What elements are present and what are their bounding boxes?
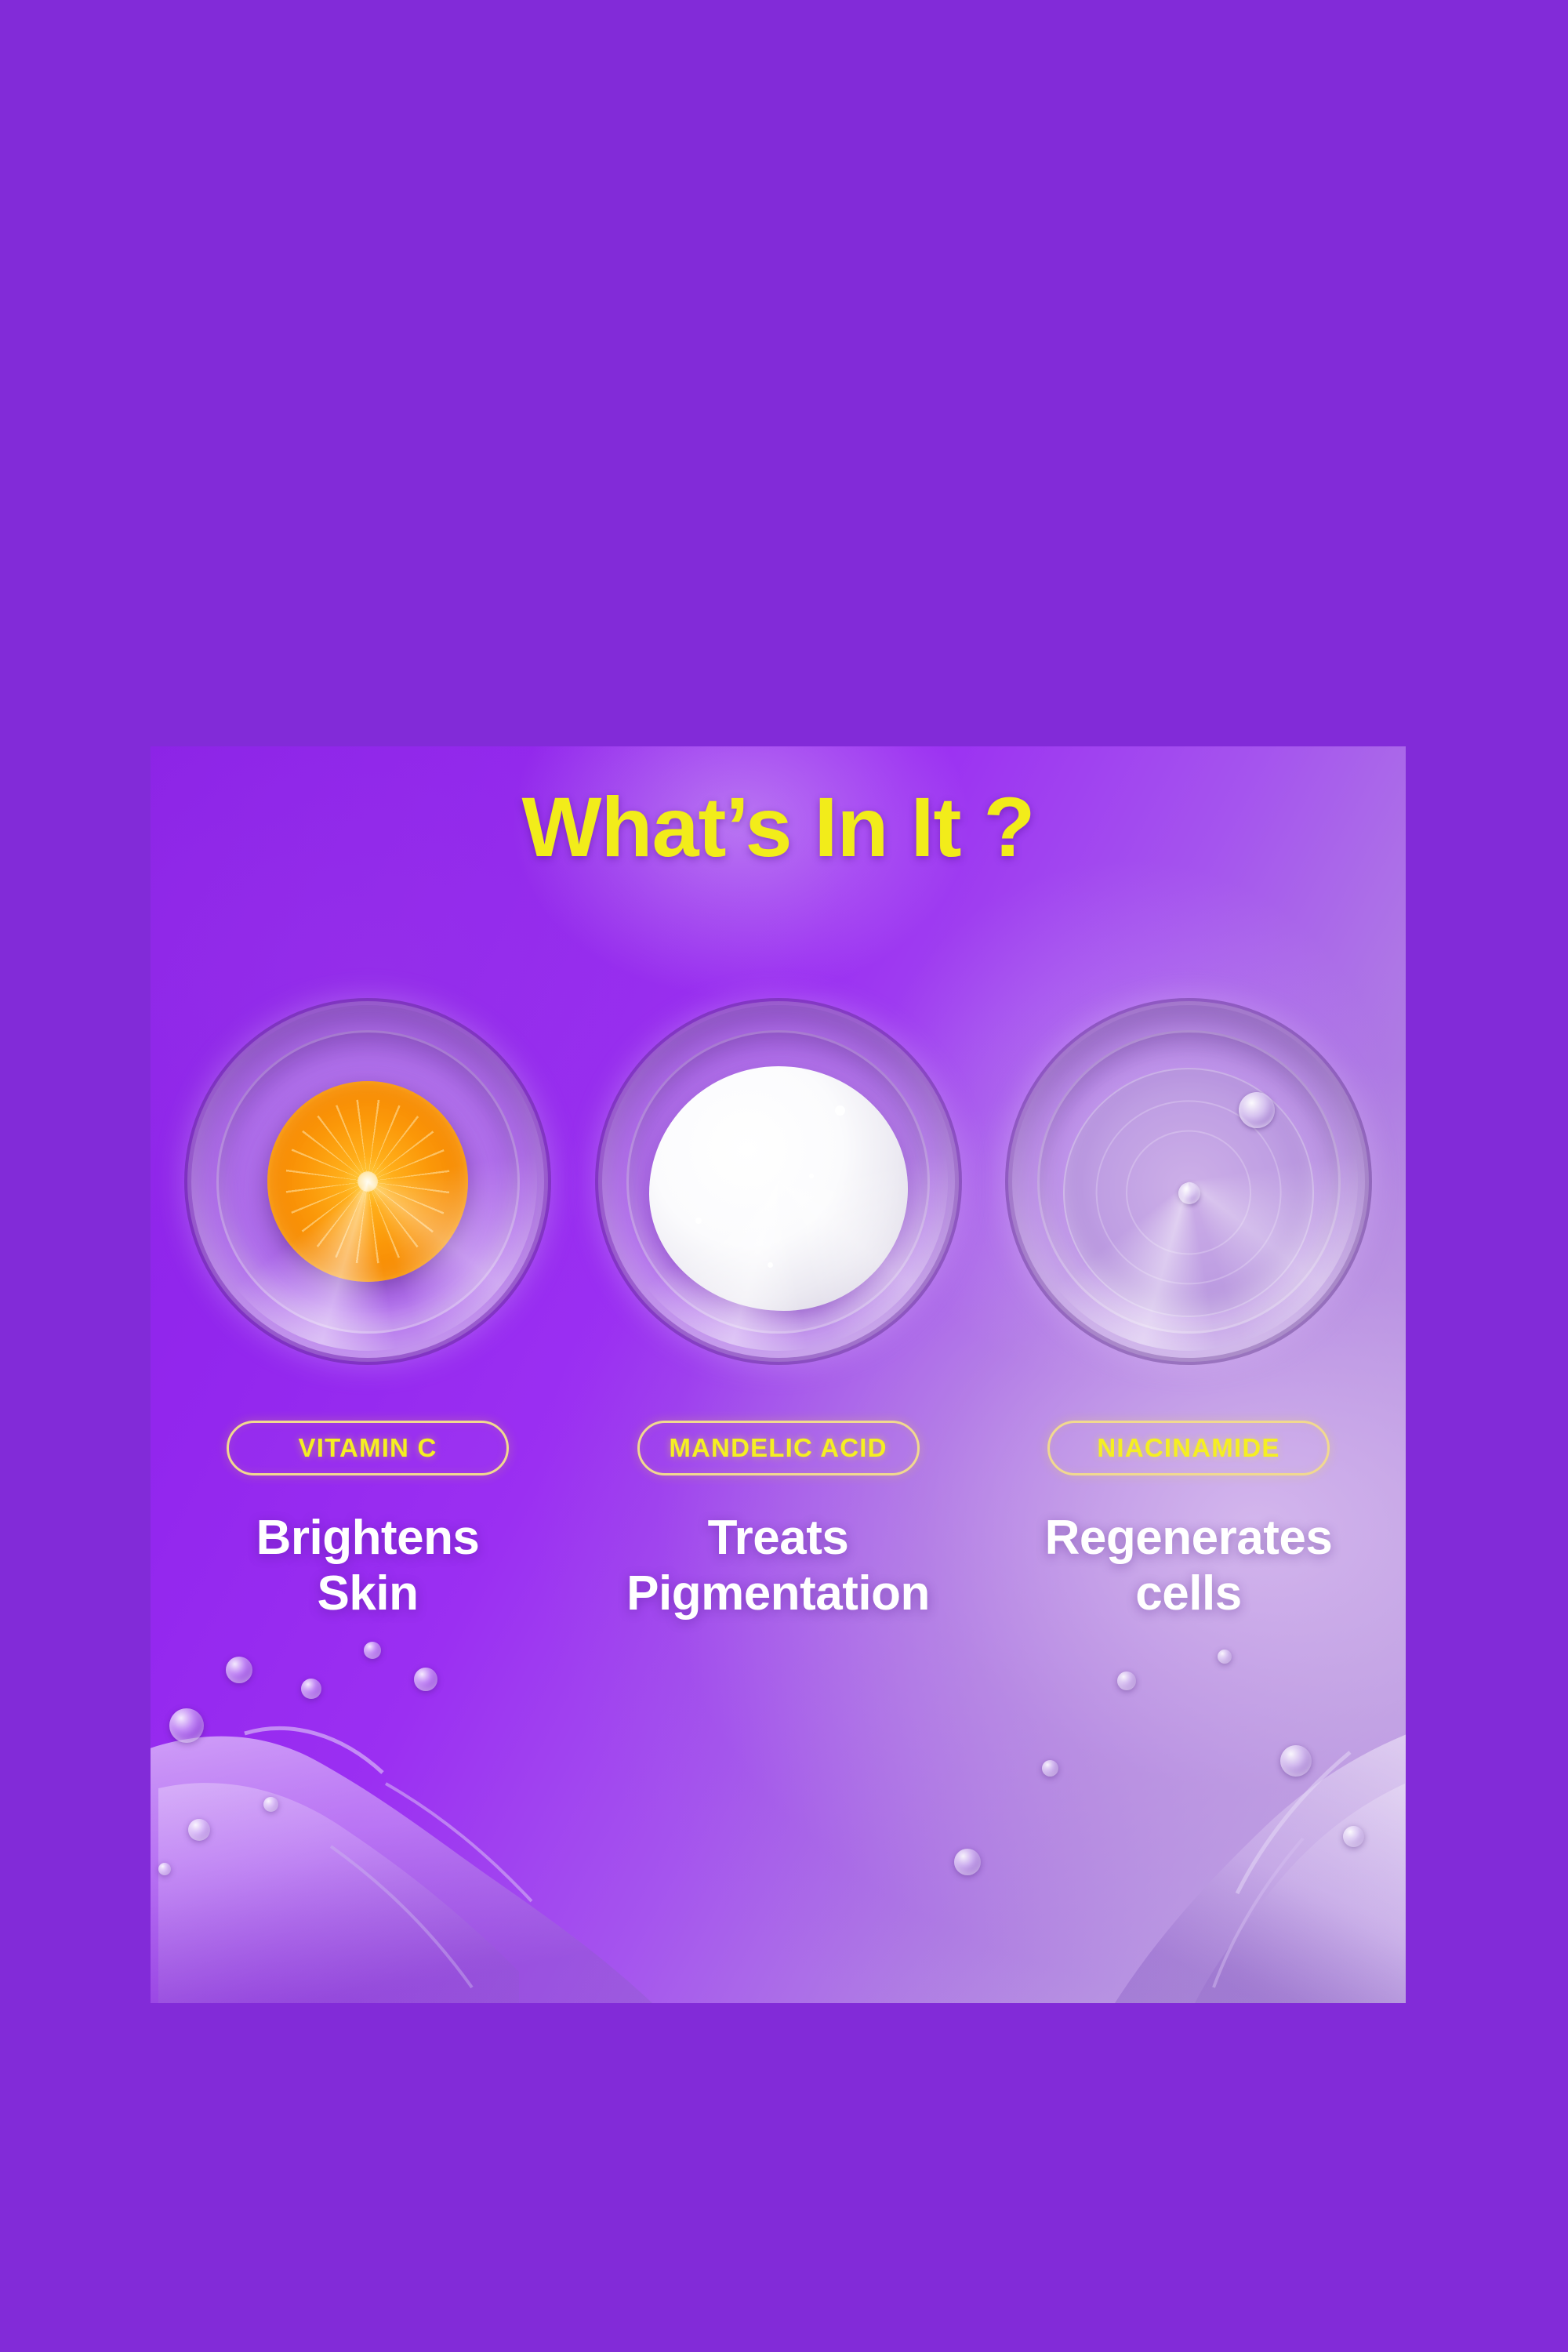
benefit-line-2: cells (1004, 1566, 1373, 1622)
water-bubble (158, 1863, 171, 1875)
water-bubble (301, 1679, 321, 1699)
ingredient-pill-niacinamide[interactable]: NIACINAMIDE (1047, 1421, 1330, 1475)
powder-grain (695, 1218, 702, 1224)
benefit-text-mandelic-acid: Treats Pigmentation (594, 1511, 963, 1621)
water-bubble (169, 1708, 204, 1743)
pill-column-0: VITAMIN C (183, 1421, 552, 1475)
water-bubble (414, 1668, 437, 1691)
benefit-line-1: Treats (708, 1511, 849, 1565)
orange-core (358, 1171, 378, 1192)
pill-column-1: MANDELIC ACID (594, 1421, 963, 1475)
water-splash-svg (151, 1635, 1406, 2003)
benefit-line-2: Pigmentation (594, 1566, 963, 1622)
splash-strand (1214, 1838, 1303, 1987)
water-bubble (1218, 1650, 1232, 1664)
benefit-text-niacinamide: Regenerates cells (1004, 1511, 1373, 1621)
splash-sheet-right-inner (1195, 1784, 1405, 2003)
splash-strand (1237, 1752, 1350, 1893)
pill-label: NIACINAMIDE (1097, 1433, 1279, 1463)
benefit-row: Brightens Skin Treats Pigmentation Regen… (151, 1511, 1406, 1621)
pill-label: MANDELIC ACID (669, 1433, 887, 1463)
splash-sheet-right (1115, 1729, 1406, 2003)
water-bubble (1280, 1745, 1312, 1777)
card-sheen (151, 746, 1406, 2003)
benefit-column-2: Regenerates cells (1004, 1511, 1373, 1621)
powder-grain (768, 1262, 773, 1268)
petri-dish-niacinamide (1012, 1005, 1365, 1358)
splash-strand (331, 1846, 472, 1987)
white-powder-icon (649, 1066, 908, 1311)
benefit-column-1: Treats Pigmentation (594, 1511, 963, 1621)
water-bubble (188, 1819, 210, 1841)
petri-dish-vitamin-c (191, 1005, 544, 1358)
pill-label: VITAMIN C (298, 1433, 437, 1463)
dish-column-mandelic-acid (594, 1005, 963, 1358)
water-bubble (1042, 1760, 1058, 1777)
splash-sheet-left-inner (158, 1783, 519, 2003)
splash-strand (386, 1784, 532, 1901)
dish-column-vitamin-c (183, 1005, 552, 1358)
splash-sheet-left (151, 1737, 652, 2003)
liquid-droplet (1239, 1092, 1275, 1128)
benefit-line-1: Brightens (256, 1511, 480, 1565)
water-bubble (1343, 1826, 1364, 1847)
ingredient-pill-mandelic-acid[interactable]: MANDELIC ACID (637, 1421, 920, 1475)
water-bubble (364, 1642, 381, 1659)
dish-column-niacinamide (1004, 1005, 1373, 1358)
benefit-text-vitamin-c: Brightens Skin (183, 1511, 552, 1621)
ingredient-card: What’s In It ? (151, 746, 1406, 2003)
clear-liquid-icon (1063, 1068, 1314, 1317)
water-bubble (954, 1849, 981, 1875)
water-bubble (226, 1657, 252, 1683)
orange-slice-icon (267, 1081, 468, 1282)
water-splash (151, 1635, 1406, 2003)
water-bubble (1117, 1671, 1136, 1690)
dish-row (151, 1005, 1406, 1358)
splash-strand (245, 1728, 383, 1773)
powder-grain (835, 1105, 845, 1116)
petri-dish-mandelic-acid (602, 1005, 955, 1358)
benefit-line-2: Skin (183, 1566, 552, 1622)
page-title: What’s In It ? (151, 778, 1406, 876)
ingredient-pill-row: VITAMIN C MANDELIC ACID NIACINAMIDE (151, 1421, 1406, 1475)
pill-column-2: NIACINAMIDE (1004, 1421, 1373, 1475)
benefit-column-0: Brightens Skin (183, 1511, 552, 1621)
liquid-droplet (1178, 1182, 1200, 1204)
water-bubble (263, 1797, 278, 1812)
benefit-line-1: Regenerates (1045, 1511, 1333, 1565)
outer-frame: What’s In It ? (0, 0, 1568, 2352)
powder-grain (809, 1174, 814, 1178)
ingredient-pill-vitamin-c[interactable]: VITAMIN C (227, 1421, 509, 1475)
